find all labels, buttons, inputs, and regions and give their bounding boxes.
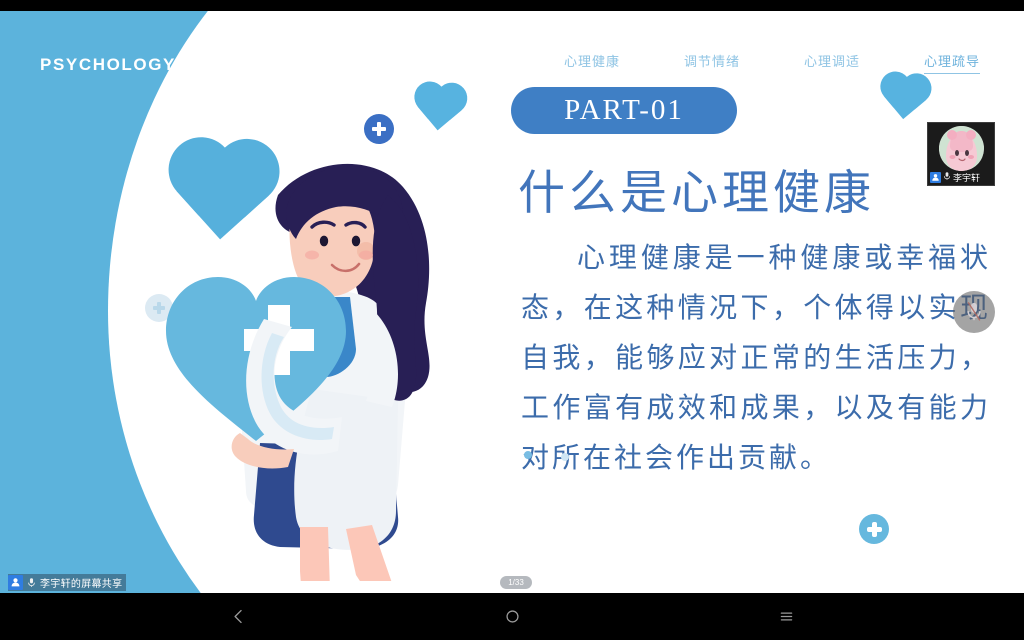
decorative-dot-1 — [524, 451, 532, 459]
participant-name: 李宇轩 — [953, 171, 980, 184]
microphone-icon — [943, 168, 951, 186]
participant-video-tile[interactable]: 李宇轩 — [927, 122, 995, 186]
microphone-icon — [27, 577, 36, 588]
decorative-cross-circle-light — [859, 514, 889, 544]
slide-nav: 心理健康 调节情绪 心理调适 心理疏导 — [564, 51, 980, 74]
participant-label: 李宇轩 — [928, 170, 994, 184]
top-letterbox-bar — [0, 0, 1024, 11]
brand-title: PSYCHOLOGY — [40, 55, 176, 75]
part-badge: PART-01 — [511, 87, 737, 134]
nav-item-xinlijiankang[interactable]: 心理健康 — [564, 51, 620, 74]
avatar — [939, 126, 984, 171]
screen-share-label: 李宇轩的屏幕共享 — [40, 575, 122, 590]
decorative-dot-2 — [561, 453, 569, 461]
floating-mic-button[interactable] — [953, 291, 995, 333]
device-screen: PSYCHOLOGY 心理健康 调节情绪 心理调适 心理疏导 PART-01 什… — [0, 0, 1024, 640]
recents-menu-icon[interactable] — [769, 600, 803, 634]
slide-body-text: 心理健康是一种健康或幸福状态，在这种情况下，个体得以实现自我，能够应对正常的生活… — [521, 233, 991, 483]
page-title: 什么是心理健康 — [518, 154, 875, 223]
nav-item-xinlishudao[interactable]: 心理疏导 — [924, 51, 980, 74]
presentation-slide[interactable]: PSYCHOLOGY 心理健康 调节情绪 心理调适 心理疏导 PART-01 什… — [0, 11, 1024, 593]
page-indicator: 1/33 — [500, 576, 532, 589]
woman-hugging-heart-illustration — [160, 151, 490, 581]
decorative-cross-circle-dark — [364, 114, 394, 144]
microphone-muted-icon — [964, 301, 984, 323]
back-chevron-icon[interactable] — [221, 600, 255, 634]
android-navigation-bar — [0, 593, 1024, 640]
nav-item-xinlitiaoshi[interactable]: 心理调适 — [804, 51, 860, 74]
home-circle-icon[interactable] — [495, 600, 529, 634]
part-badge-label: PART-01 — [564, 94, 684, 127]
screen-share-status-bar: 李宇轩的屏幕共享 — [8, 574, 126, 591]
nav-item-tiaojieqingxu[interactable]: 调节情绪 — [684, 51, 740, 74]
person-icon — [930, 172, 941, 183]
person-icon — [8, 575, 23, 590]
